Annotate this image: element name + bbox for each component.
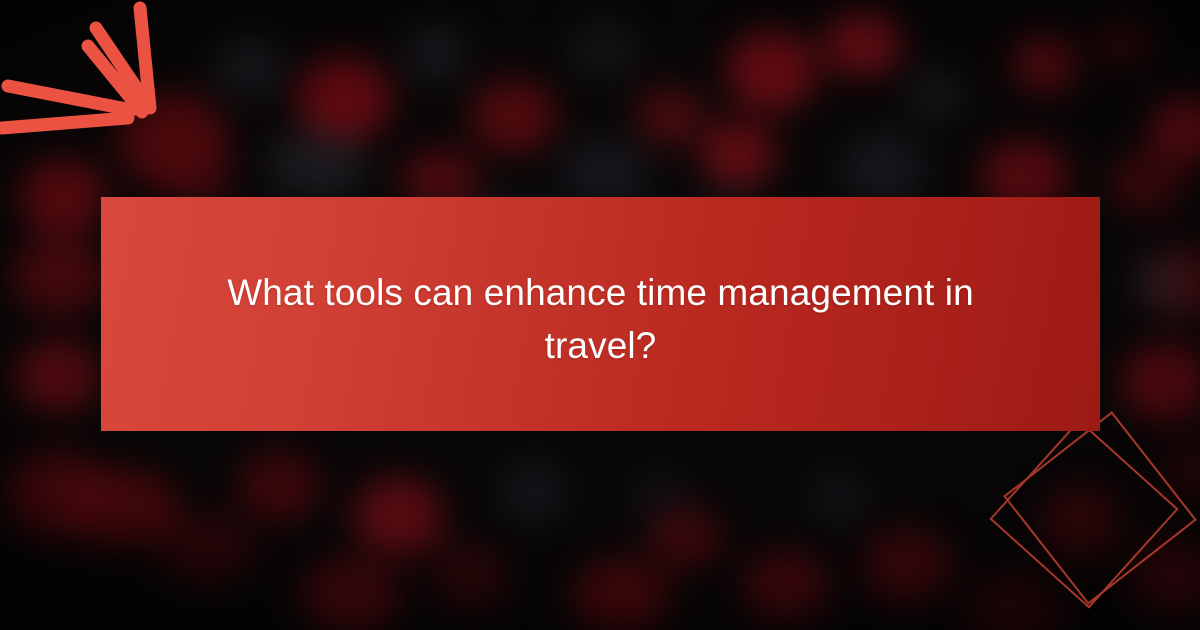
bokeh-blob <box>300 560 400 630</box>
burst-sparkle-icon <box>0 0 230 180</box>
social-card: What tools can enhance time management i… <box>0 0 1200 630</box>
bokeh-blob <box>842 132 926 202</box>
bokeh-blob <box>726 30 818 110</box>
bokeh-blob <box>352 478 444 558</box>
bokeh-blob <box>806 470 872 528</box>
bokeh-blob <box>700 120 776 186</box>
bokeh-blob <box>636 86 704 144</box>
bokeh-blob <box>404 24 468 82</box>
bokeh-blob <box>862 530 954 604</box>
bokeh-blob <box>1108 150 1184 214</box>
bokeh-blob <box>648 508 722 570</box>
bokeh-blob <box>1130 254 1194 312</box>
bokeh-blob <box>236 452 320 524</box>
bokeh-blob <box>470 78 556 152</box>
bokeh-blob <box>498 462 568 524</box>
bokeh-blob <box>430 544 508 610</box>
headline-banner: What tools can enhance time management i… <box>101 197 1100 431</box>
bokeh-blob <box>10 236 106 316</box>
bokeh-blob <box>824 10 902 76</box>
bokeh-blob <box>1096 18 1150 66</box>
bokeh-blob <box>266 128 366 198</box>
burst-ray <box>8 86 132 110</box>
bokeh-blob <box>1012 34 1078 92</box>
bokeh-blob <box>560 138 650 204</box>
bokeh-blob <box>14 340 100 414</box>
bokeh-blob <box>742 552 830 622</box>
headline-text: What tools can enhance time management i… <box>206 267 996 372</box>
bokeh-blob <box>566 18 640 80</box>
bokeh-blob <box>60 470 180 546</box>
bokeh-blob <box>160 514 254 584</box>
bokeh-blob <box>572 560 670 630</box>
bokeh-blob <box>906 70 964 120</box>
burst-ray <box>2 118 128 128</box>
decorative-square <box>1005 413 1196 604</box>
overlapping-squares-icon <box>980 410 1200 630</box>
